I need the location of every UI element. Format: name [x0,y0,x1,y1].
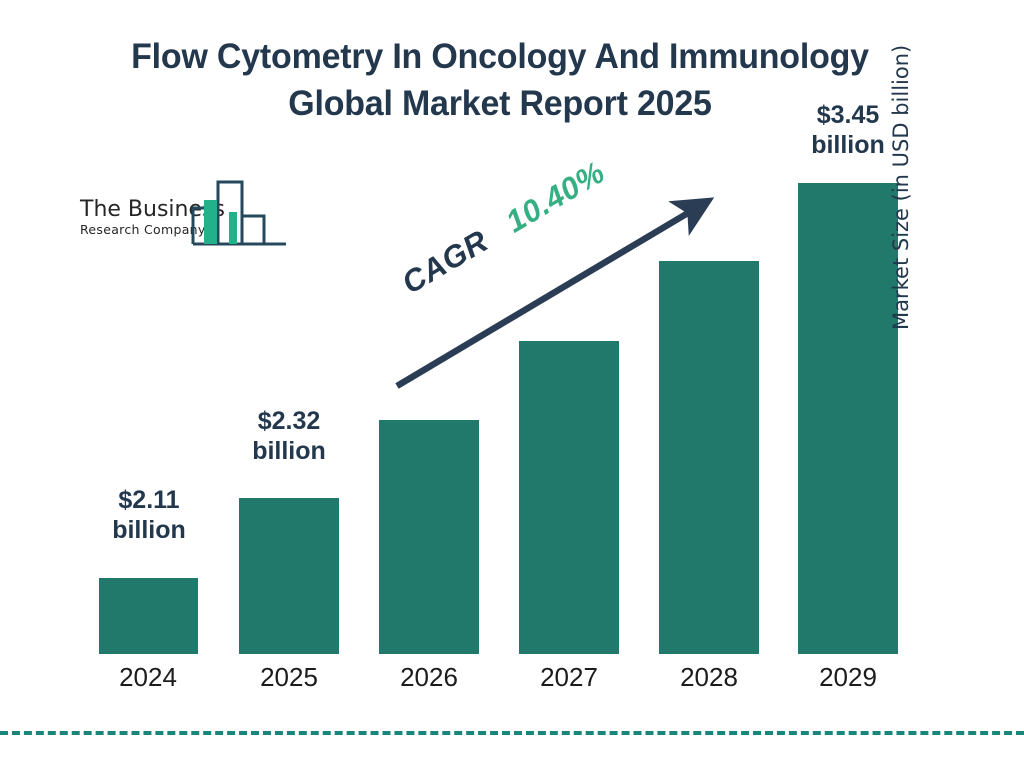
value-label-2025: $2.32 billion [219,406,359,466]
bar-2026[interactable] [379,420,479,654]
x-tick-2029: 2029 [788,662,908,693]
x-tick-2024: 2024 [88,662,208,693]
value-label-2025-unit: billion [219,436,359,466]
bar-2024[interactable] [99,578,198,654]
bar-2028[interactable] [659,261,759,654]
x-tick-2028: 2028 [649,662,769,693]
value-label-2024-unit: billion [79,515,219,545]
value-label-2024-amount: $2.11 [79,485,219,515]
footer-divider [0,731,1024,735]
value-label-2024: $2.11 billion [79,485,219,545]
bar-2029[interactable] [798,183,898,654]
page-title-line-1: Flow Cytometry In Oncology And Immunolog… [15,34,985,81]
x-tick-2026: 2026 [369,662,489,693]
company-logo: The Business Research Company [78,178,288,256]
x-tick-2025: 2025 [229,662,349,693]
x-tick-2027: 2027 [509,662,629,693]
bar-2025[interactable] [239,498,339,654]
value-label-2025-amount: $2.32 [219,406,359,436]
chart-page: Flow Cytometry In Oncology And Immunolog… [0,0,1024,768]
bar-chart-logo-mark [190,178,288,250]
y-axis-title: Market Size (in USD billion) [889,0,913,330]
bar-2027[interactable] [519,341,619,654]
